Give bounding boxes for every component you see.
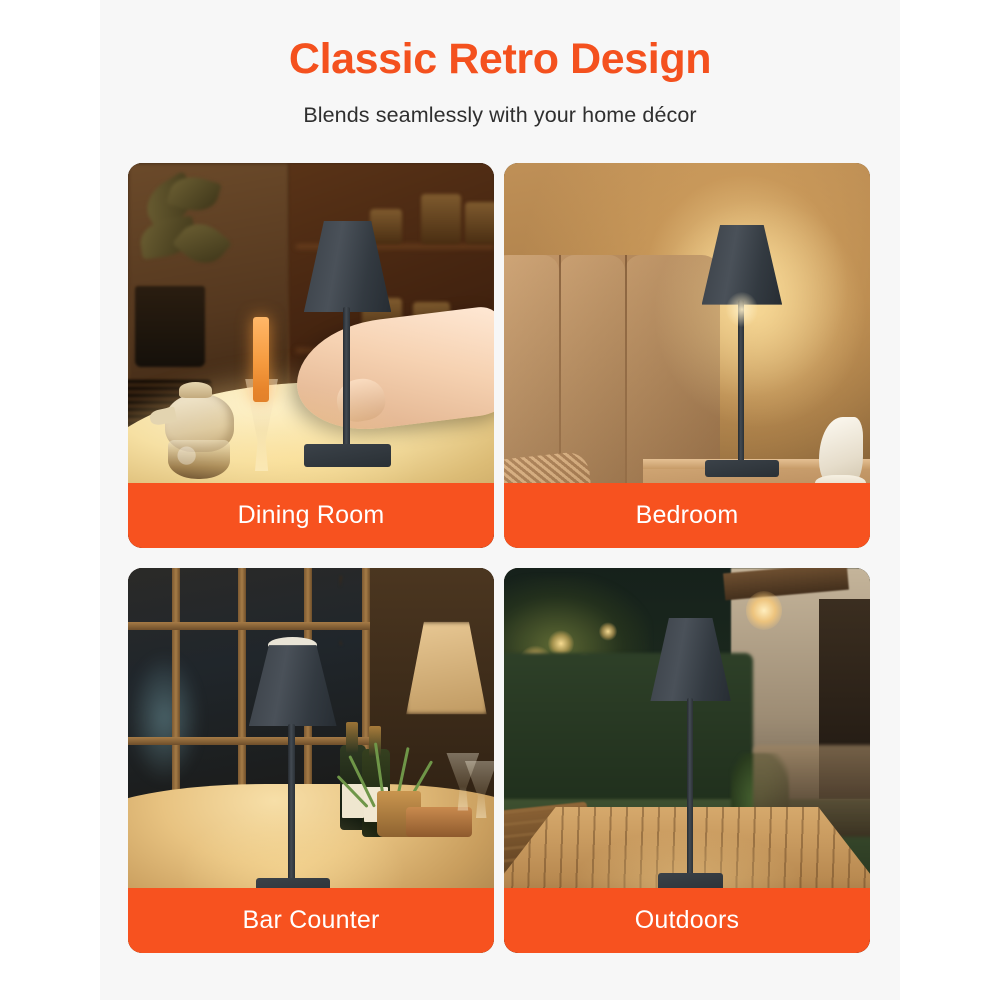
storage-jar: [465, 202, 494, 244]
page-title: Classic Retro Design: [100, 34, 900, 86]
window-mullion: [128, 622, 370, 630]
lamp-shade: [702, 225, 783, 305]
lamp-shade: [304, 221, 392, 312]
scene-caption-bedroom: Bedroom: [504, 483, 870, 548]
window-glow: [128, 653, 201, 784]
wooden-box: [406, 807, 472, 838]
scene-card-dining-room[interactable]: Dining Room: [128, 163, 494, 548]
scene-caption-bar-counter: Bar Counter: [128, 888, 494, 953]
storage-jar: [421, 194, 461, 244]
scene-card-bar-counter[interactable]: Bar Counter: [128, 568, 494, 953]
headboard-seam: [625, 255, 627, 521]
lamp-base: [304, 444, 392, 467]
wall-sconce-light: [746, 591, 783, 630]
table-lamp-bedroom: [702, 225, 783, 475]
table-lamp-dining: [300, 221, 395, 475]
lamp-stem: [687, 698, 693, 878]
scene-caption-dining-room: Dining Room: [128, 483, 494, 548]
lamp-stem: [738, 300, 744, 465]
lamp-shade: [249, 645, 337, 726]
candle: [253, 317, 268, 402]
scene-card-bedroom[interactable]: Bedroom: [504, 163, 870, 548]
lamp-shade: [650, 618, 731, 701]
page-subtitle: Blends seamlessly with your home décor: [100, 103, 900, 128]
plant-pot: [135, 286, 205, 367]
snack-bowl: [168, 440, 230, 479]
scene-gallery: Dining Room: [128, 163, 872, 953]
wine-bottle-neck: [346, 722, 358, 753]
product-feature-page: Classic Retro Design Blends seamlessly w…: [0, 0, 1000, 1000]
window-mullion: [238, 568, 246, 807]
window-mullion: [172, 568, 180, 807]
table-lamp-bar: [249, 637, 337, 899]
decorative-branch: [340, 576, 464, 645]
header: Classic Retro Design Blends seamlessly w…: [100, 0, 900, 128]
lamp-base: [705, 460, 779, 478]
lamp-stem: [288, 724, 295, 886]
table-lamp-outdoors: [650, 618, 731, 895]
scene-caption-outdoors: Outdoors: [504, 888, 870, 953]
teapot-lid: [179, 382, 212, 397]
scene-card-outdoors[interactable]: Outdoors: [504, 568, 870, 953]
lamp-stem: [343, 307, 351, 454]
